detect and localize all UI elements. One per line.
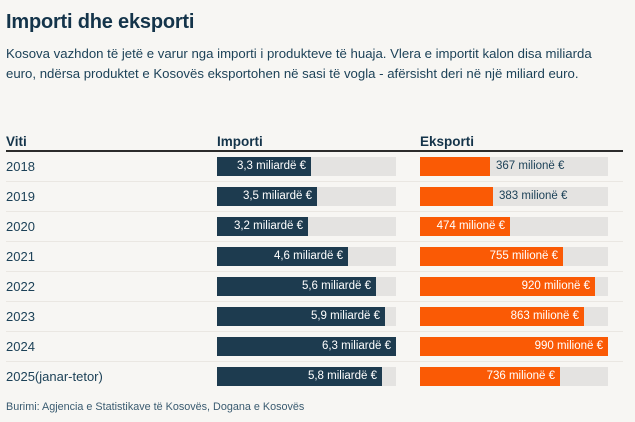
column-header-export: Eksporti [420,134,623,150]
export-bar-track: 474 milionë € [420,217,608,236]
table-body: 20183,3 miliardë €367 milionë €20193,5 m… [6,152,623,391]
row-year-cell: 2023 [6,308,217,326]
export-bar-value-label: 736 milionë € [487,367,555,386]
row-import-cell: 3,5 miliardë € [217,187,420,206]
table-header-row: Viti Importi Eksporti [6,126,623,152]
export-bar-fill [420,187,493,206]
import-bar-value-label: 5,9 miliardë € [311,307,380,326]
import-bar-value-label: 5,8 miliardë € [308,367,377,386]
table-row: 20203,2 miliardë €474 milionë € [6,212,623,242]
row-year-cell: 2021 [6,248,217,266]
export-bar-value-label: 920 milionë € [522,277,590,296]
row-export-cell: 474 milionë € [420,217,623,236]
row-import-cell: 3,2 miliardë € [217,217,420,236]
table-row: 20183,3 miliardë €367 milionë € [6,152,623,182]
page-title: Importi dhe eksporti [6,0,629,35]
export-bar-track: 863 milionë € [420,307,608,326]
row-export-cell: 920 milionë € [420,277,623,296]
column-header-import: Importi [217,134,420,150]
import-bar-track: 5,9 miliardë € [217,307,396,326]
year-label: 2021 [6,249,35,264]
column-header-year: Viti [6,134,217,150]
import-bar-track: 3,2 miliardë € [217,217,396,236]
row-export-cell: 367 milionë € [420,157,623,176]
row-import-cell: 5,9 miliardë € [217,307,420,326]
export-bar-value-label: 863 milionë € [511,307,579,326]
import-bar-value-label: 6,3 miliardë € [322,337,391,356]
row-import-cell: 4,6 miliardë € [217,247,420,266]
import-bar-value-label: 4,6 miliardë € [274,247,343,266]
year-label: 2022 [6,279,35,294]
import-bar-track: 3,5 miliardë € [217,187,396,206]
row-year-cell: 2020 [6,218,217,236]
import-bar-value-label: 3,2 miliardë € [234,217,303,236]
row-import-cell: 5,6 miliardë € [217,277,420,296]
row-year-cell: 2019 [6,188,217,206]
import-bar-value-label: 3,5 miliardë € [243,187,312,206]
row-export-cell: 990 milionë € [420,337,623,356]
import-bar-track: 4,6 miliardë € [217,247,396,266]
row-import-cell: 5,8 miliardë € [217,367,420,386]
row-import-cell: 6,3 miliardë € [217,337,420,356]
chart-subtitle: Kosova vazhdon të jetë e varur nga impor… [6,35,620,83]
table-row: 20246,3 miliardë €990 milionë € [6,332,623,362]
source-note: Burimi: Agjencia e Statistikave të Kosov… [6,400,304,414]
table-row: 20235,9 miliardë €863 milionë € [6,302,623,332]
export-bar-track: 755 milionë € [420,247,608,266]
row-export-cell: 755 milionë € [420,247,623,266]
export-bar-value-label: 755 milionë € [490,247,558,266]
row-export-cell: 736 milionë € [420,367,623,386]
row-year-cell: 2018 [6,158,217,176]
import-bar-value-label: 3,3 miliardë € [237,157,306,176]
row-export-cell: 383 milionë € [420,187,623,206]
table-row: 20214,6 miliardë €755 milionë € [6,242,623,272]
year-label: 2023 [6,309,35,324]
table-row: 20193,5 miliardë €383 milionë € [6,182,623,212]
import-bar-track: 5,8 miliardë € [217,367,396,386]
import-export-table: Viti Importi Eksporti 20183,3 miliardë €… [6,126,623,391]
export-bar-fill [420,157,490,176]
year-label: 2024 [6,339,35,354]
export-bar-value-label: 474 milionë € [437,217,505,236]
year-label: 2019 [6,189,35,204]
export-bar-track: 367 milionë € [420,157,608,176]
row-year-cell: 2024 [6,338,217,356]
row-year-cell: 2025(janar-tetor) [6,368,217,386]
table-row: 20225,6 miliardë €920 milionë € [6,272,623,302]
export-bar-track: 990 milionë € [420,337,608,356]
import-bar-track: 6,3 miliardë € [217,337,396,356]
chart-page: Importi dhe eksporti Kosova vazhdon të j… [0,0,635,422]
row-year-cell: 2022 [6,278,217,296]
import-bar-track: 3,3 miliardë € [217,157,396,176]
export-bar-value-label: 383 milionë € [499,187,567,206]
export-bar-track: 383 milionë € [420,187,608,206]
import-bar-track: 5,6 miliardë € [217,277,396,296]
export-bar-value-label: 990 milionë € [535,337,603,356]
table-row: 2025(janar-tetor)5,8 miliardë €736 milio… [6,362,623,391]
year-label: 2018 [6,159,35,174]
year-label: 2025(janar-tetor) [6,369,103,384]
row-import-cell: 3,3 miliardë € [217,157,420,176]
export-bar-track: 920 milionë € [420,277,608,296]
export-bar-track: 736 milionë € [420,367,608,386]
row-export-cell: 863 milionë € [420,307,623,326]
import-bar-value-label: 5,6 miliardë € [302,277,371,296]
export-bar-value-label: 367 milionë € [496,157,564,176]
year-label: 2020 [6,219,35,234]
